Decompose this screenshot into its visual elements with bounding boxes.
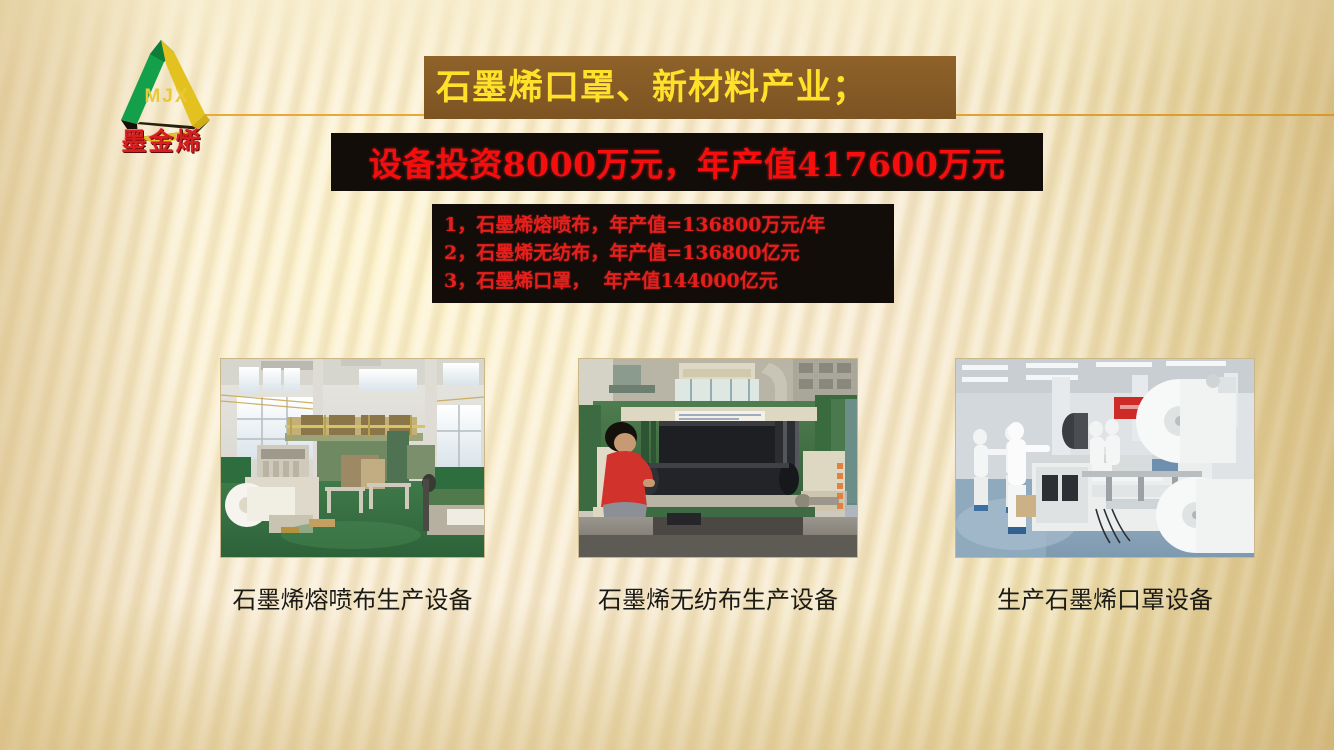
logo-brand-name: 墨金烯 bbox=[96, 122, 228, 158]
page-title: 石墨烯口罩、新材料产业； bbox=[436, 70, 868, 105]
photo-caption: 石墨烯无纺布生产设备 bbox=[528, 580, 908, 615]
nonwoven-machine-illustration bbox=[579, 359, 857, 557]
slide-canvas: MJX 墨金烯 石墨烯口罩、新材料产业； 设备投资8000万元，年产值41760… bbox=[0, 0, 1334, 750]
logo-initials: MJX bbox=[124, 86, 210, 108]
company-logo: MJX 墨金烯 bbox=[104, 34, 222, 152]
nonwoven-fabric-line-photo bbox=[578, 358, 858, 558]
factory-hall-illustration bbox=[221, 359, 484, 557]
list-item: 1，石墨烯熔喷布，年产值=136800万元/年 bbox=[444, 211, 894, 239]
photo-caption: 生产石墨烯口罩设备 bbox=[905, 580, 1305, 615]
headline-banner: 设备投资8000万元，年产值417600万元 bbox=[331, 133, 1043, 191]
meltblown-fabric-line-photo bbox=[220, 358, 485, 558]
mask-production-line-photo bbox=[955, 358, 1255, 558]
headline-text: 设备投资8000万元，年产值417600万元 bbox=[369, 138, 1006, 186]
cleanroom-illustration bbox=[956, 359, 1254, 557]
list-item: 2，石墨烯无纺布，年产值=136800亿元 bbox=[444, 239, 894, 267]
product-value-list: 1，石墨烯熔喷布，年产值=136800万元/年 2，石墨烯无纺布，年产值=136… bbox=[432, 204, 894, 303]
list-item: 3，石墨烯口罩， 年产值144000亿元 bbox=[444, 267, 894, 295]
worker-figure bbox=[1105, 419, 1120, 465]
photo-caption: 石墨烯熔喷布生产设备 bbox=[160, 580, 545, 615]
slide-title-bar: 石墨烯口罩、新材料产业； bbox=[424, 56, 956, 119]
